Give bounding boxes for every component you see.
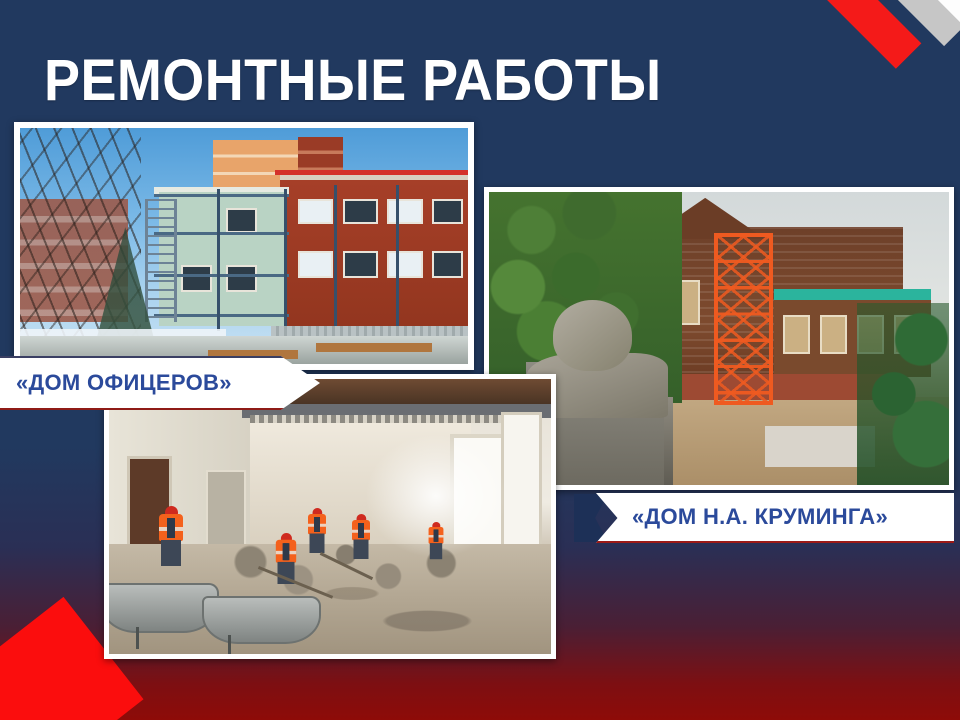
banner-kruming-house[interactable]: «ДОМ Н.А. КРУМИНГА»: [596, 494, 954, 542]
photo-1-content: [20, 128, 468, 364]
photo-officers-house-exterior: [14, 122, 474, 370]
photo-2-content: [489, 192, 949, 485]
photo-3-content: [109, 379, 551, 654]
ribbon-stripe-red: [663, 0, 922, 69]
slide-canvas: РЕМОНТНЫЕ РАБОТЫ: [0, 0, 960, 720]
banner-plate: «ДОМ ОФИЦЕРОВ»: [0, 356, 320, 410]
banner-label: «ДОМ Н.А. КРУМИНГА»: [596, 504, 888, 530]
wheelbarrow: [202, 596, 321, 644]
ribbon-stripe-dark-red: [816, 0, 960, 1]
ribbon-stripe-silver: [732, 0, 960, 46]
banner-tail-notch: [574, 494, 608, 542]
ribbon-stripe-white: [772, 0, 960, 74]
photo-interior-demolition: [104, 374, 556, 659]
page-title: РЕМОНТНЫЕ РАБОТЫ: [44, 52, 662, 110]
banner-label: «ДОМ ОФИЦЕРОВ»: [8, 370, 232, 396]
banner-plate: «ДОМ Н.А. КРУМИНГА»: [596, 493, 954, 543]
banner-officers-house[interactable]: «ДОМ ОФИЦЕРОВ»: [0, 358, 320, 408]
